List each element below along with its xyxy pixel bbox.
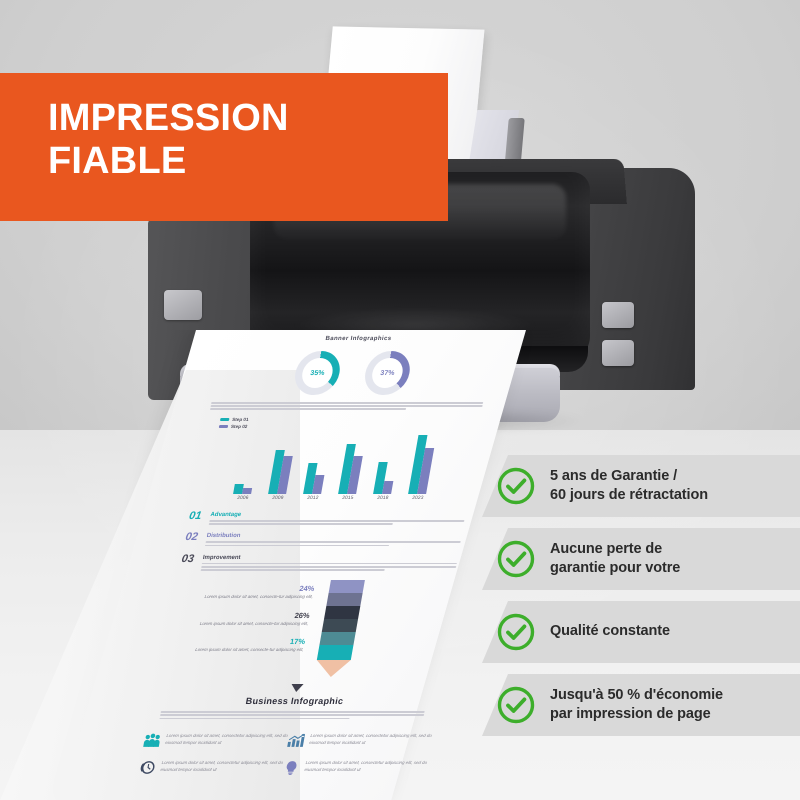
check-circle-icon — [496, 466, 536, 506]
list-title: Improvement — [202, 555, 458, 561]
printed-infographic-sheet: Banner Infographics 35% 37% Step 01 — [0, 330, 560, 800]
bar-group — [230, 432, 269, 494]
funnel-text: Lorem ipsum dolor sit amet, consecte-tur… — [159, 647, 304, 653]
donut-2-label: 37% — [362, 351, 414, 395]
x-axis-tick-label: 2023 — [403, 496, 432, 501]
funnel-item: 17% Lorem ipsum dolor sit amet, consecte… — [159, 637, 312, 653]
feature-card-1[interactable]: 5 ans de Garantie /60 jours de rétractat… — [482, 455, 800, 517]
list-title: Advantage — [210, 512, 466, 518]
pencil-tip — [314, 660, 351, 677]
pencil-segment — [317, 645, 354, 660]
bar-chart-growth-icon — [286, 733, 306, 748]
feature-line-2: garantie pour votre — [550, 559, 680, 578]
feature-line-1: Qualité constante — [550, 622, 670, 641]
icon-feature-text: Lorem ipsum dolor sit amet, consectetur … — [304, 760, 428, 773]
legend-item-step-01: Step 01 — [220, 417, 495, 422]
bar-group — [370, 432, 409, 494]
x-axis-tick-label: 2009 — [263, 496, 292, 501]
text-line — [209, 523, 393, 525]
icon-feature-grid: Lorem ipsum dolor sit amet, consectetur … — [129, 733, 439, 787]
headline-line-1: IMPRESSION — [48, 97, 289, 139]
funnel-labels: 24% Lorem ipsum dolor sit amet, consecte… — [157, 584, 321, 663]
text-line — [205, 545, 389, 547]
page-title: IMPRESSION FIABLE — [0, 73, 448, 182]
list-title: Distribution — [206, 533, 462, 539]
chart-legend: Step 01 Step 02 — [219, 417, 495, 429]
bar-group — [405, 432, 444, 494]
feature-line-1: 5 ans de Garantie / — [550, 467, 708, 486]
feature-card-3[interactable]: Qualité constante — [482, 601, 800, 663]
icon-feature-item: Lorem ipsum dolor sit amet, consectetur … — [286, 733, 433, 748]
legend-item-step-02: Step 02 — [219, 424, 494, 429]
feature-card-4[interactable]: Jusqu'à 50 % d'économiepar impression de… — [482, 674, 800, 736]
legend-swatch-teal — [220, 418, 230, 421]
text-line — [202, 563, 457, 565]
numbered-list: 01 Advantage 02 Distribution — [179, 510, 466, 572]
check-circle-icon — [496, 612, 536, 652]
pencil-segment — [326, 593, 362, 606]
funnel-chart-section: 24% Lorem ipsum dolor sit amet, consecte… — [148, 584, 466, 684]
feature-card-text: Aucune perte degarantie pour votre — [550, 540, 680, 578]
pencil-funnel-graphic — [314, 580, 365, 677]
business-infographic-title: Business Infographic — [144, 696, 446, 706]
bar-group — [335, 432, 374, 494]
printer-left-button[interactable] — [164, 290, 202, 320]
check-circle-icon — [496, 539, 536, 579]
list-number: 01 — [188, 510, 205, 522]
printer-right-button-bottom[interactable] — [602, 340, 634, 366]
list-item: 02 Distribution — [184, 531, 463, 547]
printer-right-button-top[interactable] — [602, 302, 634, 328]
bar-chart-x-axis: 200620092012201520182023 — [180, 494, 481, 501]
business-placeholder-text — [159, 711, 424, 719]
icon-feature-text: Lorem ipsum dolor sit amet, consectetur … — [165, 733, 289, 746]
legend-swatch-purple — [219, 425, 229, 428]
funnel-item: 24% Lorem ipsum dolor sit amet, consecte… — [168, 584, 321, 600]
infographic-header-title: Banner Infographics — [208, 336, 509, 342]
bar-group — [300, 432, 339, 494]
feature-card-list: 5 ans de Garantie /60 jours de rétractat… — [482, 455, 800, 747]
icon-feature-item: Lorem ipsum dolor sit amet, consectetur … — [281, 760, 428, 775]
text-line — [201, 569, 385, 571]
feature-line-1: Aucune perte de — [550, 540, 680, 559]
legend-label-2: Step 02 — [231, 424, 248, 429]
funnel-text: Lorem ipsum dolor sit amet, consecte-tur… — [168, 594, 313, 600]
feature-card-2[interactable]: Aucune perte degarantie pour votre — [482, 528, 800, 590]
check-circle-icon — [496, 685, 536, 725]
headline-line-2: FIABLE — [48, 140, 448, 183]
feature-card-text: 5 ans de Garantie /60 jours de rétractat… — [550, 467, 708, 505]
icon-feature-text: Lorem ipsum dolor sit amet, consectetur … — [160, 760, 284, 773]
text-line — [210, 405, 482, 407]
icon-feature-item: Lorem ipsum dolor sit amet, consectetur … — [142, 733, 289, 748]
donut-chart-1: 35% — [292, 351, 344, 395]
text-line — [159, 718, 349, 720]
pencil-segment — [324, 606, 360, 619]
bar-group — [265, 432, 304, 494]
feature-line-2: 60 jours de rétractation — [550, 486, 708, 505]
donut-1-label: 35% — [292, 351, 344, 395]
funnel-text: Lorem ipsum dolor sit amet, consecte-tur… — [164, 621, 309, 627]
headline-banner: IMPRESSION FIABLE — [0, 73, 448, 221]
feature-line-2: par impression de page — [550, 705, 723, 724]
text-line — [209, 520, 464, 522]
funnel-percent: 17% — [160, 637, 306, 646]
feature-line-1: Jusqu'à 50 % d'économie — [550, 686, 723, 705]
list-number: 02 — [184, 531, 201, 543]
x-axis-tick-label: 2006 — [228, 496, 257, 501]
text-line — [210, 408, 406, 410]
x-axis-tick-label: 2015 — [333, 496, 362, 501]
bar-chart — [181, 432, 492, 494]
icon-feature-item: Lorem ipsum dolor sit amet, consectetur … — [137, 760, 284, 775]
funnel-percent: 24% — [170, 584, 316, 593]
funnel-percent: 26% — [165, 611, 311, 620]
x-axis-tick-label: 2012 — [298, 496, 327, 501]
feature-card-text: Qualité constante — [550, 622, 670, 641]
intro-placeholder-text — [210, 402, 483, 410]
lightbulb-icon — [281, 760, 301, 775]
bar-step-02 — [242, 488, 252, 494]
people-group-icon — [142, 733, 162, 748]
pencil-segment — [322, 619, 358, 632]
marketing-banner: Banner Infographics 35% 37% Step 01 — [0, 0, 800, 800]
down-arrow-icon — [290, 684, 303, 692]
list-item: 01 Advantage — [187, 510, 466, 526]
bar-step-02 — [382, 481, 393, 494]
pencil-segment — [319, 632, 355, 645]
text-line — [205, 541, 460, 543]
text-line — [160, 711, 424, 713]
x-axis-tick-label: 2018 — [368, 496, 397, 501]
pencil-segment — [329, 580, 365, 593]
clock-icon — [137, 760, 157, 775]
donut-chart-2: 37% — [362, 351, 414, 395]
icon-feature-text: Lorem ipsum dolor sit amet, consectetur … — [309, 733, 433, 746]
feature-card-text: Jusqu'à 50 % d'économiepar impression de… — [550, 686, 723, 724]
funnel-item: 26% Lorem ipsum dolor sit amet, consecte… — [164, 611, 317, 627]
text-line — [201, 566, 456, 568]
bar-step-02 — [312, 475, 324, 494]
text-line — [160, 714, 424, 716]
legend-label-1: Step 01 — [232, 417, 249, 422]
text-line — [211, 402, 483, 404]
donut-chart-row: 35% 37% — [199, 351, 507, 395]
list-number: 03 — [181, 553, 198, 565]
list-item: 03 Improvement — [179, 553, 458, 573]
